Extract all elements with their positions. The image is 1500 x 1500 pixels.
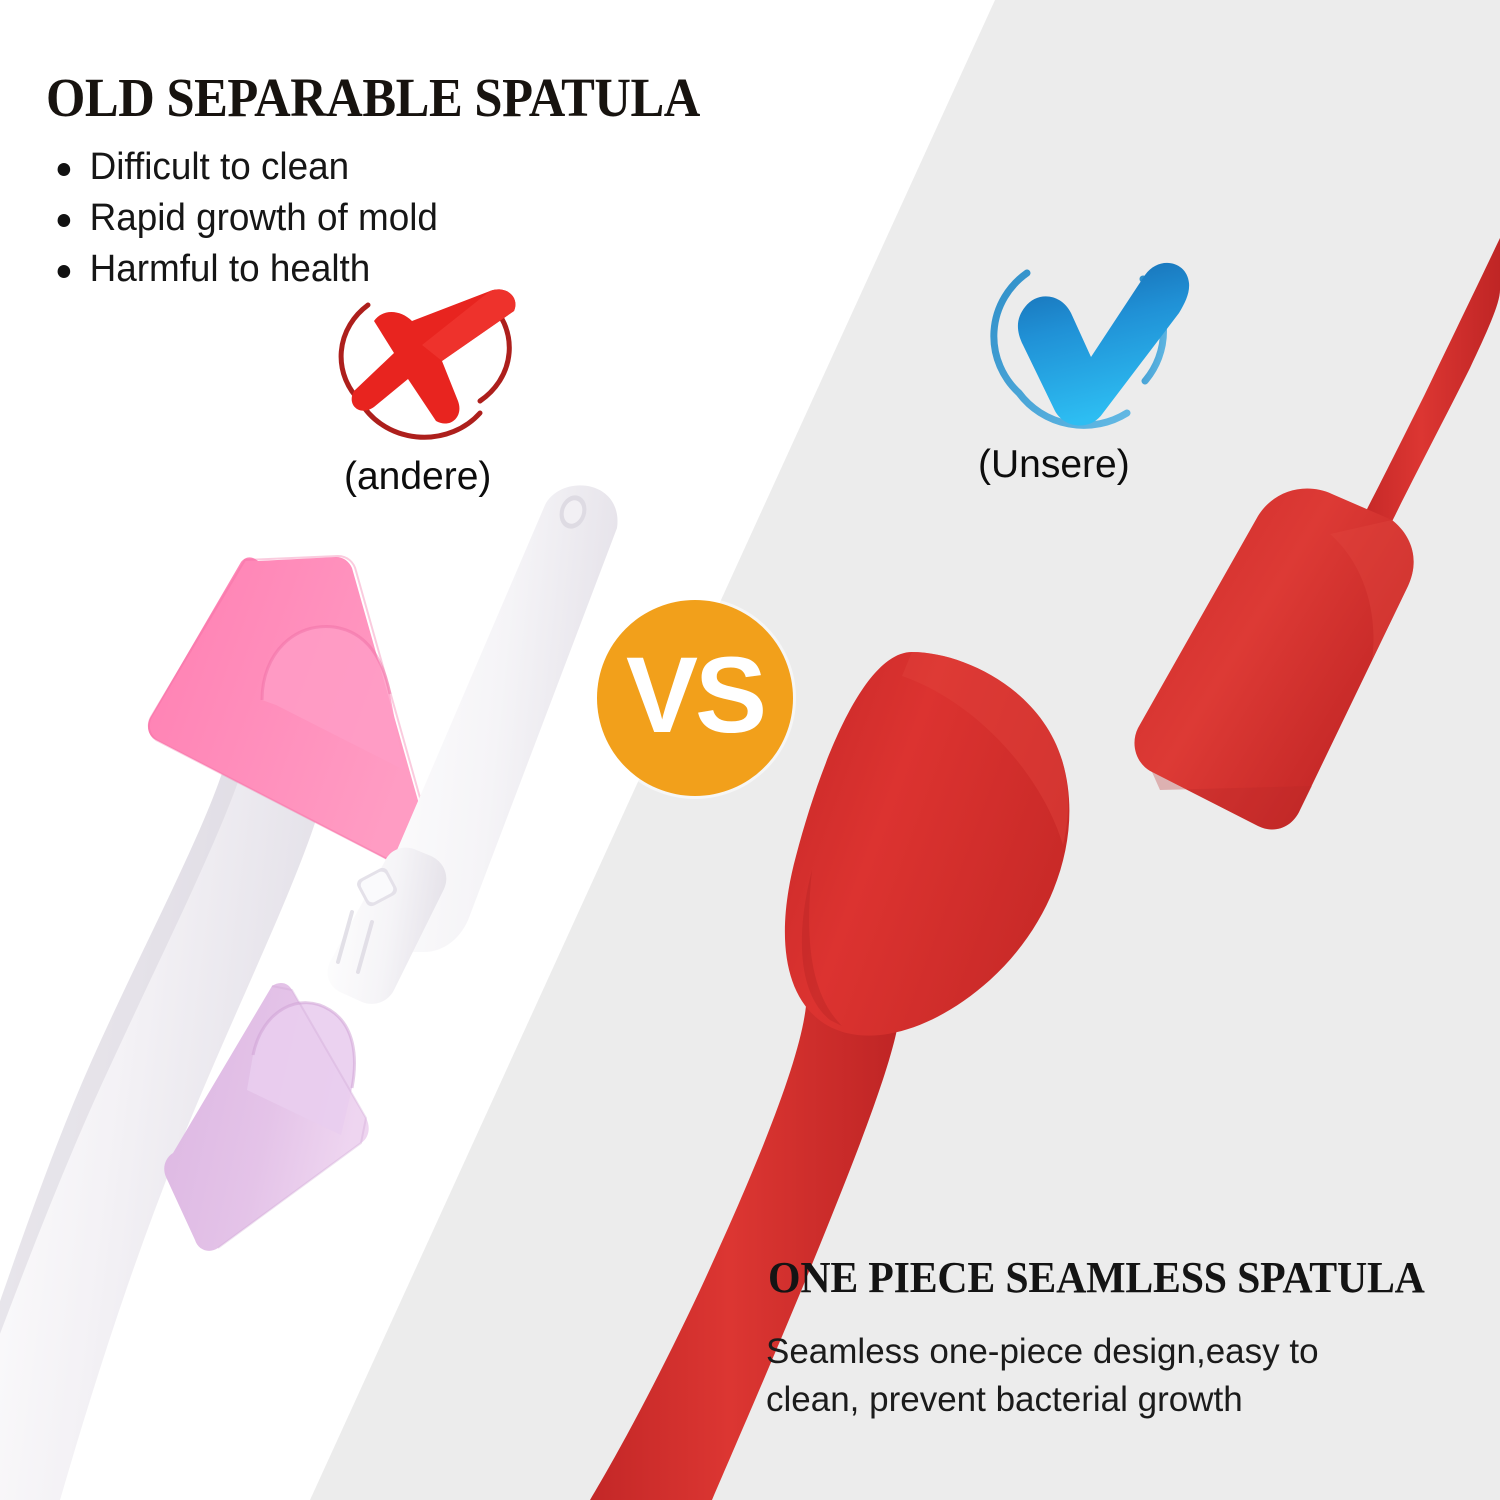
right-panel-description: Seamless one-piece design,easy to clean,… (766, 1328, 1406, 1424)
page-title: OLD SEPARABLE SPATULA (46, 66, 700, 129)
infographic-canvas: OLD SEPARABLE SPATULA Difficult to clean… (0, 0, 1500, 1500)
vs-label: VS (626, 641, 764, 749)
drawback-list: Difficult to clean Rapid growth of mold … (44, 142, 450, 295)
cross-mark-icon (330, 283, 530, 443)
check-mark-icon (975, 253, 1190, 438)
list-item: Difficult to clean (44, 142, 438, 193)
vs-badge: VS (597, 600, 793, 796)
right-panel-title: ONE PIECE SEAMLESS SPATULA (768, 1252, 1425, 1303)
list-item: Rapid growth of mold (44, 193, 438, 244)
description-line-2: clean, prevent bacterial growth (766, 1376, 1406, 1424)
check-mark-caption: (Unsere) (978, 443, 1130, 487)
description-line-1: Seamless one-piece design,easy to (766, 1328, 1406, 1376)
cross-mark-caption: (andere) (344, 455, 491, 499)
